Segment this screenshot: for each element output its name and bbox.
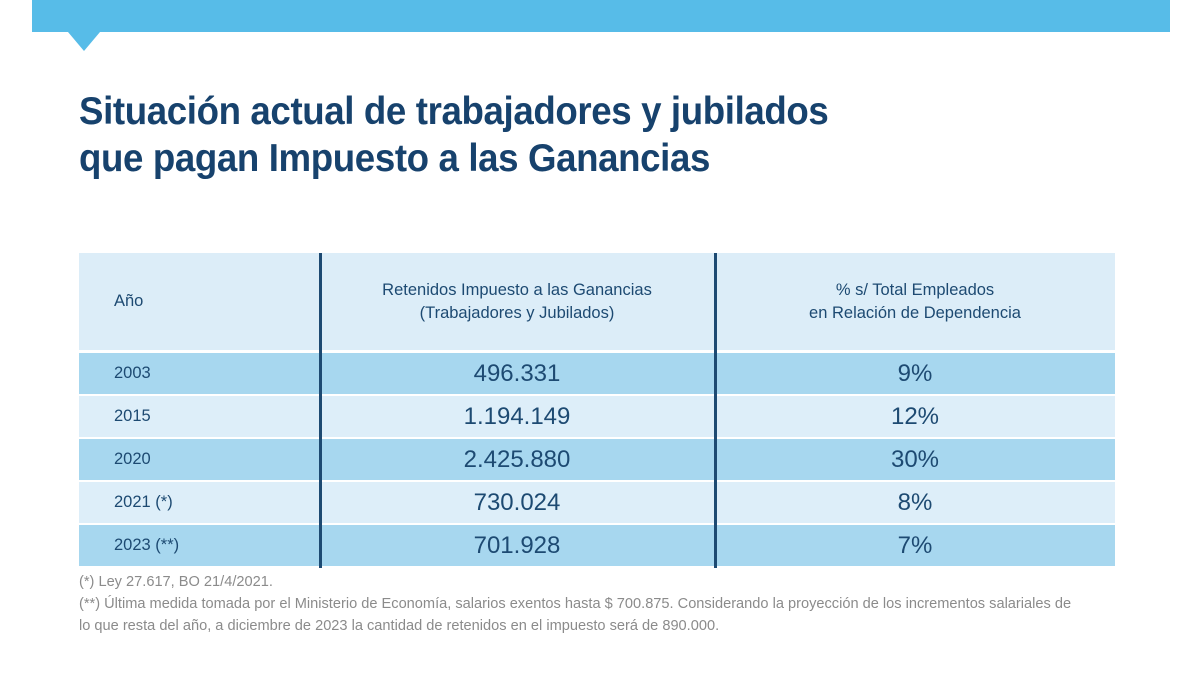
cell-year: 2003 [79, 353, 319, 394]
cell-year-value: 2023 (**) [114, 536, 179, 555]
page-title: Situación actual de trabajadores y jubil… [79, 88, 1039, 182]
header-label-retained-line-1: Retenidos Impuesto a las Ganancias [382, 279, 652, 302]
header-label-percent-line-2: en Relación de Dependencia [809, 302, 1021, 325]
page-title-line-2: que pagan Impuesto a las Ganancias [79, 135, 981, 182]
header-label-retained-line-2: (Trabajadores y Jubilados) [382, 302, 652, 325]
cell-year-value: 2015 [114, 407, 151, 426]
footnote-1: (*) Ley 27.617, BO 21/4/2021. [79, 571, 1124, 593]
triangle-down-icon [68, 32, 100, 51]
column-divider-1 [319, 253, 322, 568]
cell-retained-value: 2.425.880 [464, 446, 571, 474]
cell-retained-value: 730.024 [474, 489, 561, 517]
cell-year-value: 2020 [114, 450, 151, 469]
footnotes: (*) Ley 27.617, BO 21/4/2021. (**) Últim… [79, 571, 1124, 637]
table-row: 2003 496.331 9% [79, 353, 1115, 394]
cell-retained: 2.425.880 [319, 439, 715, 480]
table-row: 2021 (*) 730.024 8% [79, 482, 1115, 523]
header-label-retained: Retenidos Impuesto a las Ganancias (Trab… [382, 279, 652, 325]
top-banner [32, 0, 1170, 32]
cell-year-value: 2021 (*) [114, 493, 173, 512]
cell-percent-value: 7% [898, 532, 933, 560]
footnote-2: (**) Última medida tomada por el Ministe… [79, 593, 1124, 615]
cell-retained: 1.194.149 [319, 396, 715, 437]
table-row: 2020 2.425.880 30% [79, 439, 1115, 480]
data-table: Año Retenidos Impuesto a las Ganancias (… [79, 253, 1115, 568]
cell-year-value: 2003 [114, 364, 151, 383]
cell-retained-value: 496.331 [474, 360, 561, 388]
cell-year: 2023 (**) [79, 525, 319, 566]
table-header-row: Año Retenidos Impuesto a las Ganancias (… [79, 253, 1115, 350]
cell-retained: 730.024 [319, 482, 715, 523]
cell-percent-value: 9% [898, 360, 933, 388]
header-label-percent: % s/ Total Empleados en Relación de Depe… [809, 279, 1021, 325]
column-divider-2 [714, 253, 717, 568]
cell-percent: 8% [715, 482, 1115, 523]
table-header-cell-year: Año [79, 253, 319, 350]
cell-percent: 9% [715, 353, 1115, 394]
cell-percent: 7% [715, 525, 1115, 566]
header-label-percent-line-1: % s/ Total Empleados [809, 279, 1021, 302]
cell-percent-value: 12% [891, 403, 939, 431]
header-label-year: Año [114, 290, 143, 313]
cell-percent: 12% [715, 396, 1115, 437]
cell-retained: 701.928 [319, 525, 715, 566]
cell-retained: 496.331 [319, 353, 715, 394]
cell-retained-value: 1.194.149 [464, 403, 571, 431]
footnote-3: lo que resta del año, a diciembre de 202… [79, 615, 1124, 637]
cell-year: 2020 [79, 439, 319, 480]
table-row: 2015 1.194.149 12% [79, 396, 1115, 437]
table-row: 2023 (**) 701.928 7% [79, 525, 1115, 566]
cell-percent-value: 8% [898, 489, 933, 517]
cell-retained-value: 701.928 [474, 532, 561, 560]
cell-percent: 30% [715, 439, 1115, 480]
cell-percent-value: 30% [891, 446, 939, 474]
table-header-cell-percent: % s/ Total Empleados en Relación de Depe… [715, 253, 1115, 350]
page-title-line-1: Situación actual de trabajadores y jubil… [79, 88, 981, 135]
cell-year: 2015 [79, 396, 319, 437]
cell-year: 2021 (*) [79, 482, 319, 523]
table-header-cell-retained: Retenidos Impuesto a las Ganancias (Trab… [319, 253, 715, 350]
